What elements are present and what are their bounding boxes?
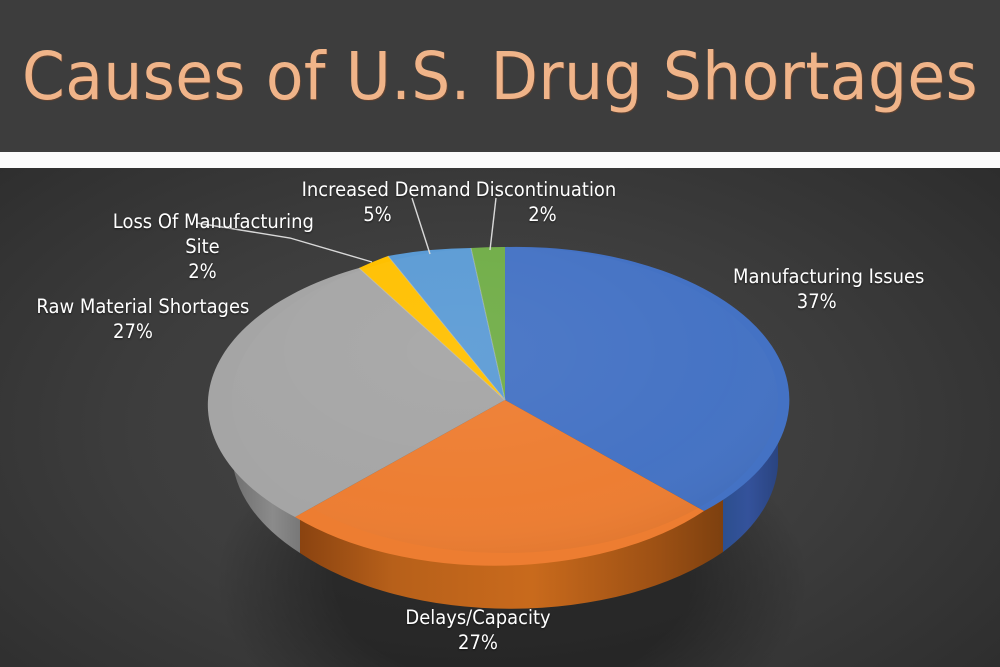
label-delays-capacity: Delays/Capacity 27% bbox=[391, 605, 566, 655]
label-discontinuation: Discontinuation 2% bbox=[476, 177, 609, 227]
chart-panel: Manufacturing Issues 37% Delays/Capacity… bbox=[0, 168, 1000, 667]
label-raw-material-shortages-name: Raw Material Shortages bbox=[36, 295, 249, 318]
label-loss-of-manufacturing-site-name2: Site bbox=[113, 234, 292, 259]
label-loss-of-manufacturing-site: Loss Of Manufacturing Site 2% bbox=[113, 209, 292, 284]
label-manufacturing-issues-name: Manufacturing Issues bbox=[733, 265, 924, 288]
page-title: Causes of U.S. Drug Shortages bbox=[22, 38, 978, 115]
label-manufacturing-issues: Manufacturing Issues 37% bbox=[733, 264, 924, 314]
label-loss-of-manufacturing-site-pct: 2% bbox=[113, 259, 292, 284]
label-discontinuation-pct: 2% bbox=[476, 202, 609, 227]
divider bbox=[0, 152, 1000, 168]
label-increased-demand-name: Increased Demand bbox=[302, 178, 471, 201]
label-discontinuation-name: Discontinuation bbox=[476, 178, 616, 201]
label-increased-demand-pct: 5% bbox=[302, 202, 454, 227]
label-delays-capacity-pct: 27% bbox=[391, 630, 566, 655]
label-increased-demand: Increased Demand 5% bbox=[302, 177, 454, 227]
label-raw-material-shortages-pct: 27% bbox=[36, 319, 229, 344]
label-delays-capacity-name: Delays/Capacity bbox=[405, 606, 550, 629]
label-manufacturing-issues-pct: 37% bbox=[733, 289, 900, 314]
label-raw-material-shortages: Raw Material Shortages 27% bbox=[36, 294, 229, 344]
infographic-root: Causes of U.S. Drug Shortages bbox=[0, 0, 1000, 667]
title-bar: Causes of U.S. Drug Shortages bbox=[0, 0, 1000, 152]
label-loss-of-manufacturing-site-name: Loss Of Manufacturing bbox=[113, 210, 314, 233]
